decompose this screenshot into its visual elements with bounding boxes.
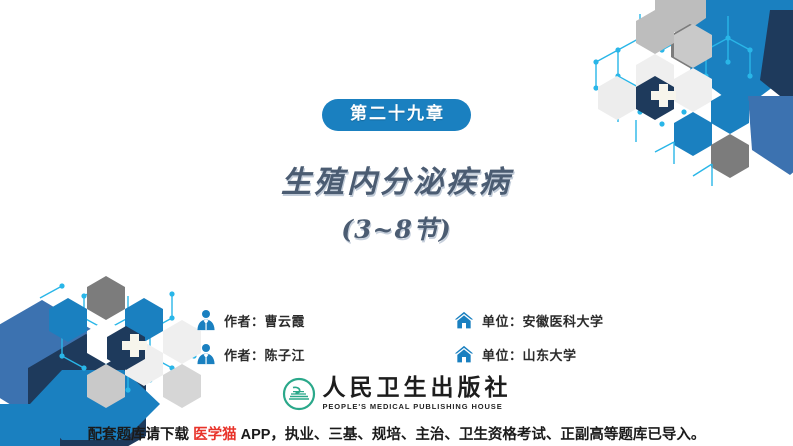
medical-cross-hexagon-icon-bottom	[107, 326, 147, 370]
chapter-badge: 第二十九章	[322, 99, 471, 131]
author-cell-1: 作者：曹云霞	[196, 309, 454, 331]
chapter-badge-container: 第二十九章	[0, 99, 793, 131]
page-subtitle: (3~8节)	[0, 210, 793, 246]
affiliation-label: 单位：安徽医科大学	[482, 311, 604, 330]
credits-block: 作者：曹云霞 单位：安徽医科大学 作者：陈子江	[196, 303, 716, 371]
pmph-logo-icon	[282, 377, 316, 411]
publisher-block: 人民卫生出版社 PEOPLE'S MEDICAL PUBLISHING HOUS…	[0, 376, 793, 411]
home-icon	[454, 309, 474, 331]
author-cell-2: 作者：陈子江	[196, 343, 454, 365]
credit-row: 作者：陈子江 单位：山东大学	[196, 337, 716, 371]
author-label: 作者：曹云霞	[224, 311, 305, 330]
author-label: 作者：陈子江	[224, 345, 305, 364]
publisher-name-cn: 人民卫生出版社	[323, 376, 512, 399]
page-title: 生殖内分泌疾病	[0, 164, 793, 202]
person-icon	[196, 343, 216, 365]
person-icon	[196, 309, 216, 331]
promo-suffix: APP，执业、三基、规培、主治、卫生资格考试、正副高等题库已导入。	[237, 427, 706, 443]
promo-prefix: 配套题库请下载	[88, 427, 194, 443]
title-block: 生殖内分泌疾病 (3~8节)	[0, 164, 793, 246]
hex-gray-top	[671, 24, 709, 68]
affiliation-label: 单位：山东大学	[482, 345, 577, 364]
publisher-name-en: PEOPLE'S MEDICAL PUBLISHING HOUSE	[323, 402, 512, 411]
publisher-name-col: 人民卫生出版社 PEOPLE'S MEDICAL PUBLISHING HOUS…	[323, 376, 512, 411]
home-icon	[454, 343, 474, 365]
promo-highlight: 医学猫	[193, 427, 237, 443]
promo-banner: 配套题库请下载 医学猫 APP，执业、三基、规培、主治、卫生资格考试、正副高等题…	[0, 423, 793, 444]
affiliation-cell-2: 单位：山东大学	[454, 343, 577, 365]
affiliation-cell-1: 单位：安徽医科大学	[454, 309, 604, 331]
slide-canvas: 第二十九章 生殖内分泌疾病 (3~8节) 作者：曹云霞	[0, 0, 793, 446]
credit-row: 作者：曹云霞 单位：安徽医科大学	[196, 303, 716, 337]
